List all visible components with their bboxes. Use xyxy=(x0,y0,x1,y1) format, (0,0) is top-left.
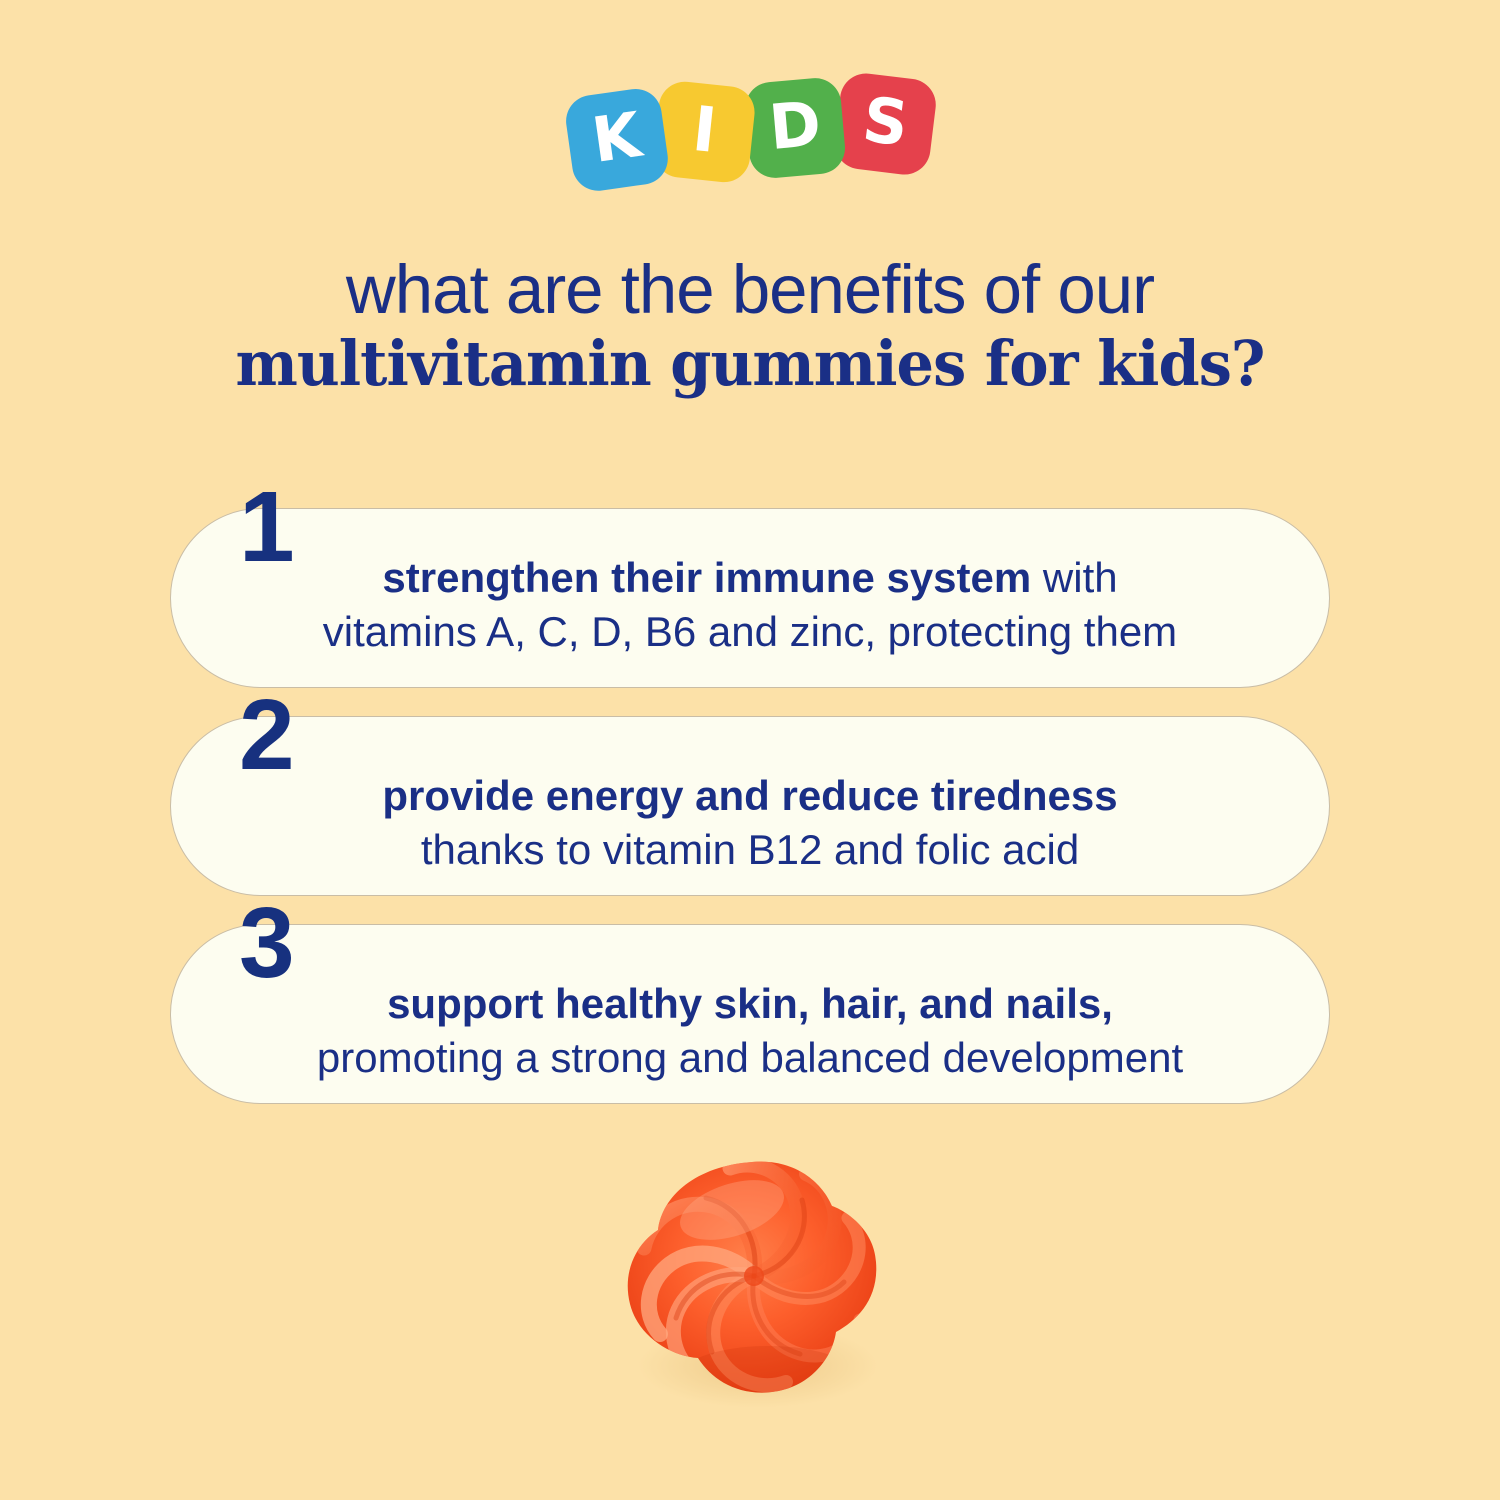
kids-tile-s-letter: S xyxy=(860,89,912,156)
kids-tile-k-letter: K xyxy=(589,104,645,172)
benefit-line-1-2: vitamins A, C, D, B6 and zinc, protectin… xyxy=(151,605,1349,659)
benefit-line-3-1: support healthy skin, hair, and nails, xyxy=(151,977,1349,1031)
benefit-card-1: 1 strengthen their immune system with vi… xyxy=(170,508,1330,688)
kids-tile-d-letter: D xyxy=(767,93,824,159)
benefit-text-1: strengthen their immune system with vita… xyxy=(151,551,1349,659)
page-title-line-1: what are the benefits of our xyxy=(0,255,1500,324)
benefit-text-2: provide energy and reduce tiredness than… xyxy=(151,769,1349,877)
orange-multivitamin-gummy-image xyxy=(608,1148,896,1410)
kids-tile-i: I xyxy=(652,79,758,185)
kids-tile-k: K xyxy=(563,86,671,194)
kids-tile-i-letter: I xyxy=(690,98,719,162)
benefit-card-2: 2 provide energy and reduce tiredness th… xyxy=(170,716,1330,896)
benefit-line-2-2: thanks to vitamin B12 and folic acid xyxy=(151,823,1349,877)
gummy-center-knot xyxy=(744,1266,764,1286)
benefit-tail-1: with xyxy=(1031,554,1117,601)
page-title: what are the benefits of our multivitami… xyxy=(0,255,1500,403)
benefit-highlight-1: strengthen their immune system xyxy=(382,554,1031,601)
benefit-text-3: support healthy skin, hair, and nails, p… xyxy=(151,977,1349,1085)
benefit-card-3: 3 support healthy skin, hair, and nails,… xyxy=(170,924,1330,1104)
benefits-list: 1 strengthen their immune system with vi… xyxy=(170,508,1330,1132)
kids-tile-d: D xyxy=(743,76,847,180)
benefit-line-3-2: promoting a strong and balanced developm… xyxy=(151,1031,1349,1085)
benefit-highlight-3: support healthy skin, hair, and nails, xyxy=(387,980,1113,1027)
kids-brand-logo: K I D S xyxy=(0,78,1500,218)
benefit-line-1-1: strengthen their immune system with xyxy=(151,551,1349,605)
page-title-line-2: multivitamin gummies for kids? xyxy=(38,324,1463,403)
kids-tile-s: S xyxy=(832,71,939,178)
benefit-line-2-1: provide energy and reduce tiredness xyxy=(151,769,1349,823)
benefit-highlight-2: provide energy and reduce tiredness xyxy=(382,772,1117,819)
